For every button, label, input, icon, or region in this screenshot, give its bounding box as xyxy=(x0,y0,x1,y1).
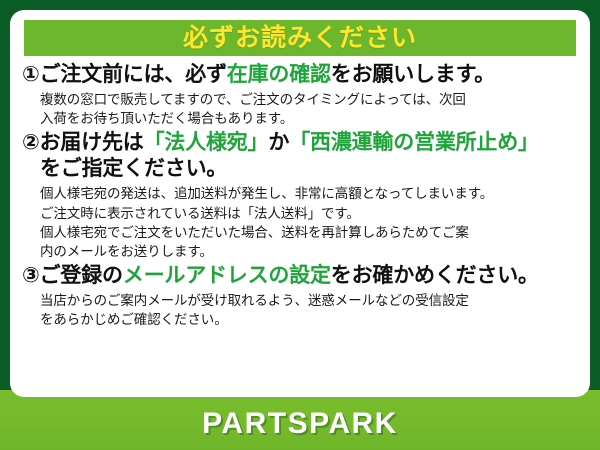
item-2-body-line-3: 個人様宅宛でご注文をいただいた場合、送料を再計算しあらためてご案 xyxy=(40,223,578,242)
item-1-head-after: をお願いします。 xyxy=(331,63,495,86)
item-2-highlight-seino: 「西濃運輸の営業所止め」 xyxy=(289,131,539,154)
item-3-head-after: をお確かめください。 xyxy=(331,264,539,287)
item-1-number: ① xyxy=(22,63,40,86)
item-3-number: ③ xyxy=(22,264,40,287)
item-2-heading-line-2: をご指定ください。 xyxy=(40,156,578,182)
item-1-heading: ①ご注文前には、必ず在庫の確認をお願いします。 xyxy=(22,62,578,88)
item-1-highlight: 在庫の確認 xyxy=(227,63,331,86)
item-3-body-line-2: をあらかじめご確認ください。 xyxy=(40,310,578,329)
item-2-heading: ②お届け先は「法人様宛」か「西濃運輸の営業所止め」 xyxy=(22,130,578,156)
item-1-body-line-1: 複数の窓口で販売してますので、ご注文のタイミングによっては、次回 xyxy=(40,90,578,109)
list-item: ①ご注文前には、必ず在庫の確認をお願いします。 複数の窓口で販売してますので、ご… xyxy=(22,62,578,128)
title-bar: 必ずお読みください xyxy=(24,20,576,56)
item-2-head-before: お届け先は xyxy=(40,131,144,154)
item-3-body: 当店からのご案内メールが受け取れるよう、迷惑メールなどの受信設定 をあらかじめご… xyxy=(40,291,578,329)
item-3-highlight: メールアドレスの設定 xyxy=(123,264,331,287)
item-3-head-before: ご登録の xyxy=(40,264,123,287)
item-2-body-line-1: 個人様宅宛の発送は、追加送料が発生し、非常に高額となってしまいます。 xyxy=(40,184,578,203)
item-2-head-middle: か xyxy=(268,131,289,154)
item-1-head-before: ご注文前には、必ず xyxy=(40,63,227,86)
notice-banner: 必ずお読みください ①ご注文前には、必ず在庫の確認をお願いします。 複数の窓口で… xyxy=(0,0,600,450)
item-2-body: 個人様宅宛の発送は、追加送料が発生し、非常に高額となってしまいます。 ご注文時に… xyxy=(40,184,578,261)
item-3-body-line-1: 当店からのご案内メールが受け取れるよう、迷惑メールなどの受信設定 xyxy=(40,291,578,310)
item-2-highlight-corporate: 「法人様宛」 xyxy=(144,131,269,154)
list-item: ②お届け先は「法人様宛」か「西濃運輸の営業所止め」 をご指定ください。 個人様宅… xyxy=(22,130,578,261)
item-2-body-line-4: 内のメールをお送りします。 xyxy=(40,242,578,261)
notice-card: 必ずお読みください ①ご注文前には、必ず在庫の確認をお願いします。 複数の窓口で… xyxy=(10,10,590,397)
list-item: ③ご登録のメールアドレスの設定をお確かめください。 当店からのご案内メールが受け… xyxy=(22,263,578,329)
item-2-body-line-2: ご注文時に表示されている送料は「法人送料」です。 xyxy=(40,204,578,223)
item-2-number: ② xyxy=(22,131,40,154)
item-1-body-line-2: 入荷をお待ち頂いただく場合もあります。 xyxy=(40,109,578,128)
footer: PARTSPARK xyxy=(0,397,600,450)
item-1-body: 複数の窓口で販売してますので、ご注文のタイミングによっては、次回 入荷をお待ち頂… xyxy=(40,90,578,128)
notice-items-list: ①ご注文前には、必ず在庫の確認をお願いします。 複数の窓口で販売してますので、ご… xyxy=(10,56,590,329)
item-3-heading: ③ご登録のメールアドレスの設定をお確かめください。 xyxy=(22,263,578,289)
page-title: 必ずお読みください xyxy=(183,26,417,51)
brand-name: PARTSPARK xyxy=(202,407,398,441)
